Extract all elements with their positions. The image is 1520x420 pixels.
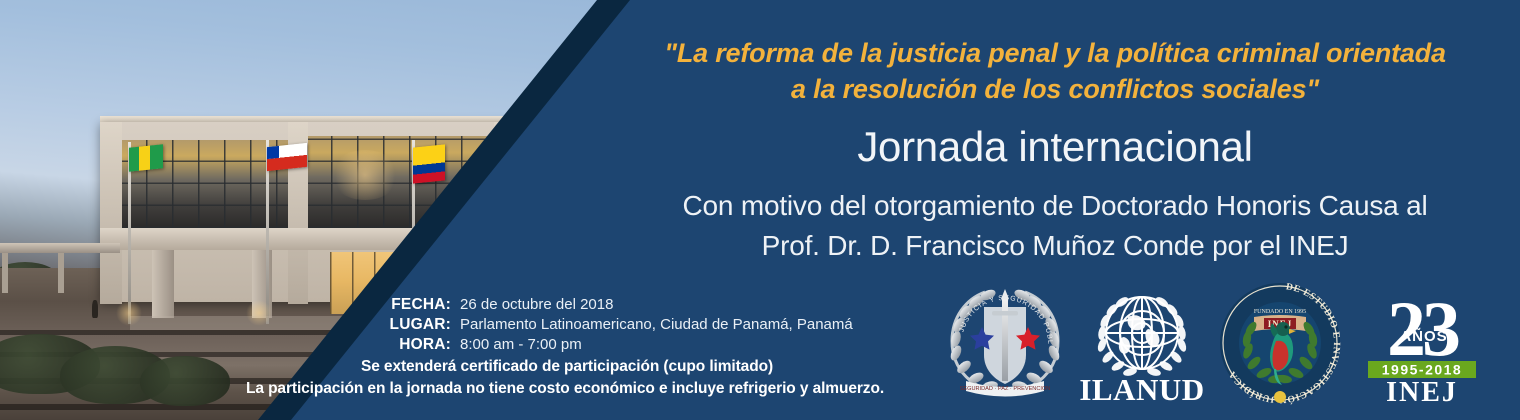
event-quote: "La reforma de la justicia penal y la po… [600,36,1510,108]
ministerio-seguridad-publica-emblem: JUSTICIA Y SEGURIDAD PUBLICA SEGURIDAD ·… [940,281,1070,407]
seal-medal-drop [1274,391,1286,403]
certificate-note: Se extenderá certificado de participació… [180,356,950,378]
anniversary-wordmark: INEJ [1386,377,1458,407]
logo-row: JUSTICIA Y SEGURIDAD PUBLICA SEGURIDAD ·… [940,278,1500,410]
event-title: Jornada internacional [600,126,1510,168]
event-subtitle-line-1: Con motivo del otorgamiento de Doctorado… [600,186,1510,226]
detail-label-hora: HORA: [180,336,460,354]
free-participation-note: La participación en la jornada no tiene … [180,378,950,400]
inej-23-anos-logo: 23 AÑOS 1995-2018 INEJ [1352,281,1492,407]
detail-label-fecha: FECHA: [180,296,460,314]
detail-label-lugar: LUGAR: [180,316,460,334]
event-details: FECHA: 26 de octubre del 2018 LUGAR: Par… [180,296,950,400]
event-subtitle-line-2: Prof. Dr. D. Francisco Muñoz Conde por e… [600,226,1510,266]
event-subtitle: Con motivo del otorgamiento de Doctorado… [600,186,1510,266]
detail-row-hora: HORA: 8:00 am - 7:00 pm [180,336,950,354]
event-banner: "La reforma de la justicia penal y la po… [0,0,1520,420]
event-quote-line-2: a la resolución de los conflictos social… [600,72,1510,108]
emblem-ribbon-text: SEGURIDAD · PAZ · PREVENCION [960,386,1051,392]
event-quote-line-1: "La reforma de la justicia penal y la po… [600,36,1510,72]
inej-founded-text: FUNDADO EN 1995 [1254,309,1306,315]
detail-row-fecha: FECHA: 26 de octubre del 2018 [180,296,950,314]
detail-value-fecha: 26 de octubre del 2018 [460,296,613,313]
banner-content: "La reforma de la justicia penal y la po… [0,0,1520,420]
ilanud-logo: ILANUD [1076,281,1208,407]
anniversary-years: 1995-2018 [1382,362,1462,378]
inej-seal: INSTITUTO DE ESTUDIO E INVESTIGACIÓN JUR… [1214,281,1346,407]
detail-value-hora: 8:00 am - 7:00 pm [460,336,582,353]
detail-value-lugar: Parlamento Latinoamericano, Ciudad de Pa… [460,316,853,333]
anniversary-anos: AÑOS [1400,327,1447,345]
ilanud-wordmark: ILANUD [1079,372,1204,407]
detail-row-lugar: LUGAR: Parlamento Latinoamericano, Ciuda… [180,316,950,334]
